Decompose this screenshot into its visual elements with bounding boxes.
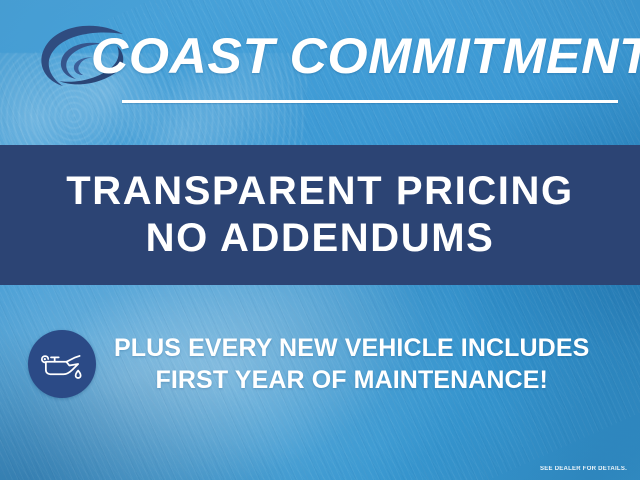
maintenance-offer-text: PLUS EVERY NEW VEHICLE INCLUDES FIRST YE… [114, 332, 589, 396]
title-divider [122, 100, 618, 103]
promise-line-addendums: NO ADDENDUMS [146, 217, 495, 260]
offer-line-2: FIRST YEAR OF MAINTENANCE! [114, 364, 589, 396]
offer-line-1: PLUS EVERY NEW VEHICLE INCLUDES [114, 332, 589, 364]
promise-band: TRANSPARENT PRICING NO ADDENDUMS [0, 145, 640, 285]
oil-can-badge [28, 330, 96, 398]
banner-header: COAST COMMITMENT [0, 0, 640, 145]
disclaimer-text: SEE DEALER FOR DETAILS. [540, 466, 627, 472]
promise-line-pricing: TRANSPARENT PRICING [66, 170, 573, 213]
coast-commitment-banner: COAST COMMITMENT TRANSPARENT PRICING NO … [0, 0, 640, 480]
maintenance-offer: PLUS EVERY NEW VEHICLE INCLUDES FIRST YE… [0, 318, 640, 410]
page-title: COAST COMMITMENT [113, 22, 628, 90]
